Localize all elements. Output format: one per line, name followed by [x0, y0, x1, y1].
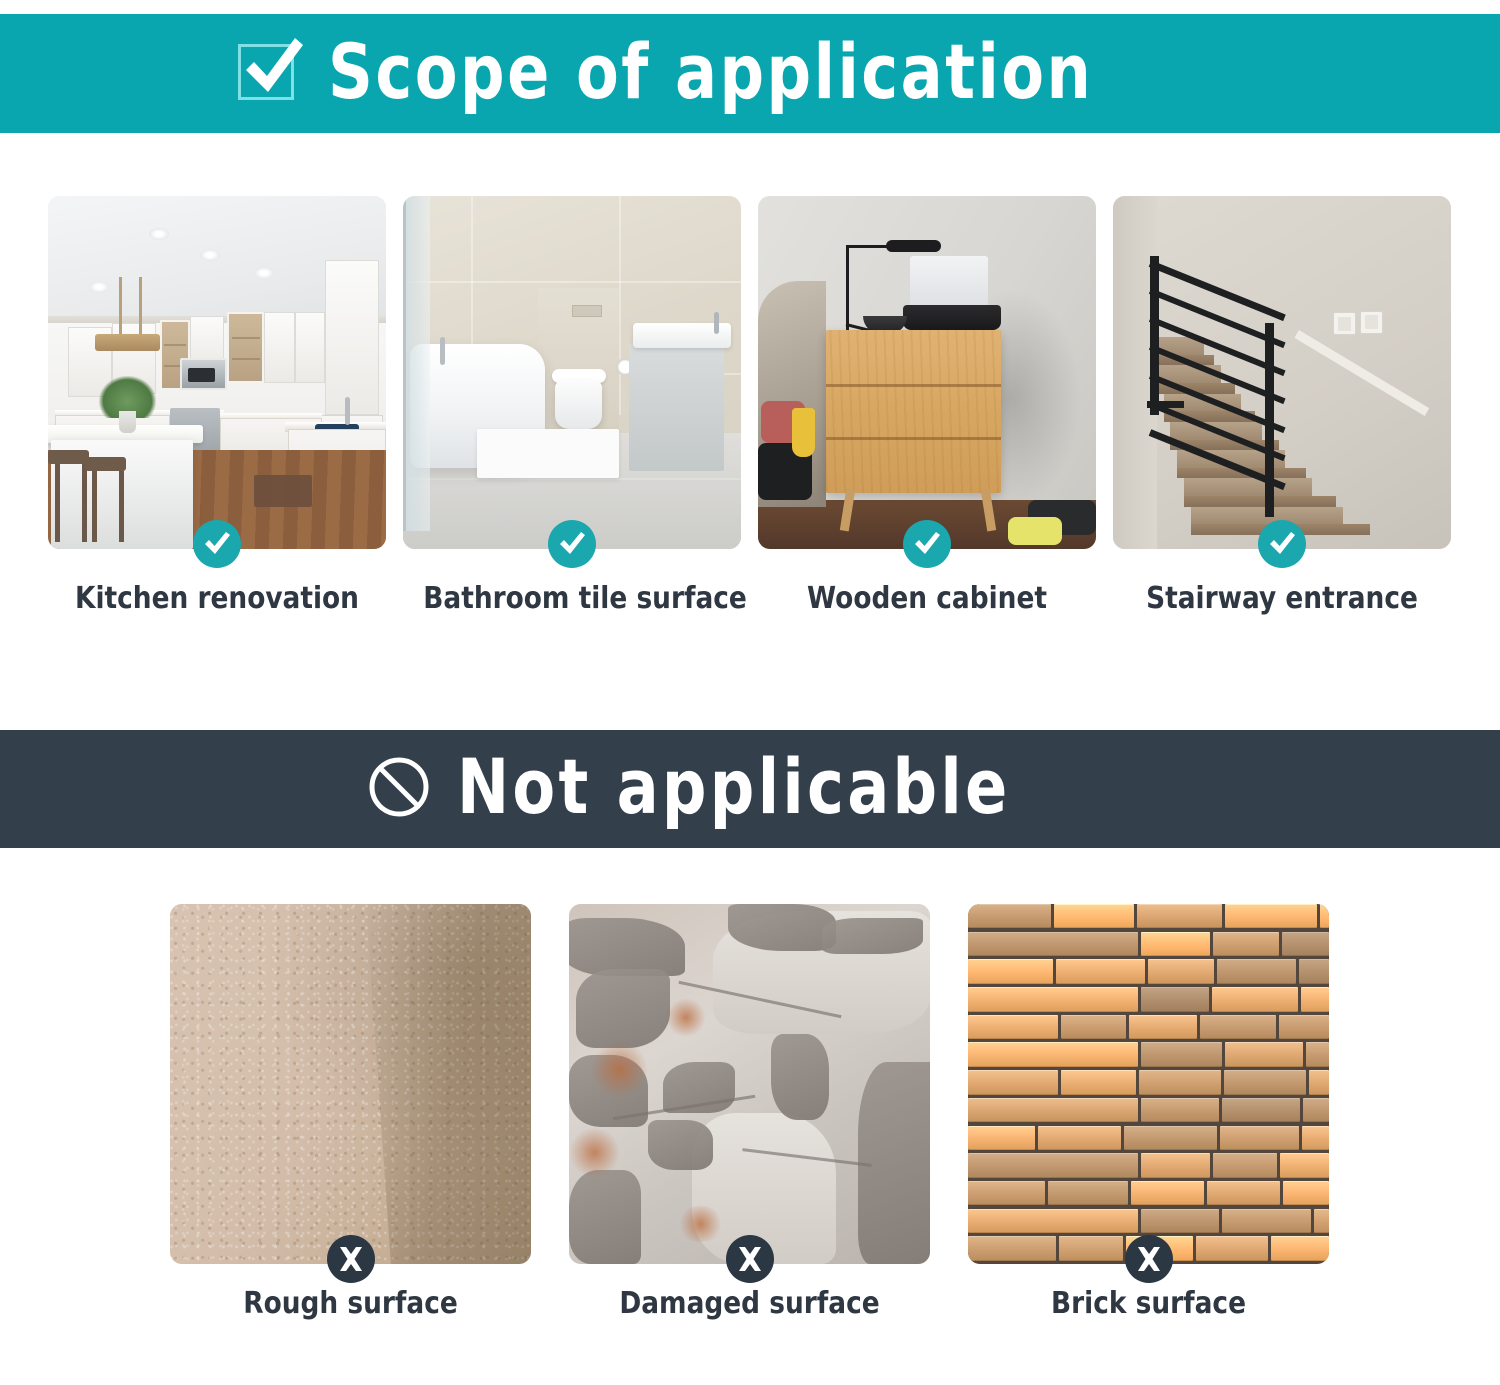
check-badge — [548, 520, 596, 568]
card-caption: Wooden cabinet — [778, 581, 1075, 616]
x-badge — [1125, 1235, 1173, 1283]
applicable-card-kitchen[interactable]: Kitchen renovation — [48, 196, 386, 549]
applicable-card-stairway[interactable]: Stairway entrance — [1113, 196, 1451, 549]
scope-of-application-banner: Scope of application — [0, 14, 1500, 133]
banner-content: Scope of application — [238, 34, 1261, 110]
not-applicable-card-damaged[interactable]: Damaged surface — [569, 904, 930, 1264]
checked-checkbox-icon — [238, 40, 302, 104]
not-applicable-card-brick[interactable]: Brick surface — [968, 904, 1329, 1264]
applicable-card-cabinet[interactable]: Wooden cabinet — [758, 196, 1096, 549]
card-caption: Stairway entrance — [1133, 581, 1430, 616]
card-caption: Brick surface — [990, 1286, 1308, 1321]
beige-tiled-bathroom-photo — [403, 196, 741, 549]
x-badge — [726, 1235, 774, 1283]
white-kitchen-with-island-photo — [48, 196, 386, 549]
not-applicable-grid: Rough surface — [170, 904, 1330, 1264]
black-railing-staircase-photo — [1113, 196, 1451, 549]
card-caption: Kitchen renovation — [68, 581, 365, 616]
peeling-paint-wall-photo — [569, 904, 930, 1264]
not-applicable-title: Not applicable — [457, 749, 1011, 825]
not-applicable-banner: Not applicable — [0, 730, 1500, 848]
scope-of-application-title: Scope of application — [328, 34, 1093, 110]
x-badge — [327, 1235, 375, 1283]
prohibition-icon — [367, 755, 431, 819]
check-badge — [903, 520, 951, 568]
tan-brick-wall-photo — [968, 904, 1329, 1264]
scope-of-application-grid: Kitchen renovation — [48, 196, 1452, 549]
not-applicable-card-rough[interactable]: Rough surface — [170, 904, 531, 1264]
applicable-card-bathroom[interactable]: Bathroom tile surface — [403, 196, 741, 549]
banner-content: Not applicable — [367, 749, 1132, 825]
card-caption: Damaged surface — [591, 1286, 909, 1321]
check-badge — [1258, 520, 1306, 568]
card-caption: Bathroom tile surface — [423, 581, 720, 616]
card-caption: Rough surface — [192, 1286, 510, 1321]
check-badge — [193, 520, 241, 568]
rough-stucco-texture-photo — [170, 904, 531, 1264]
oak-drawer-cabinet-photo — [758, 196, 1096, 549]
